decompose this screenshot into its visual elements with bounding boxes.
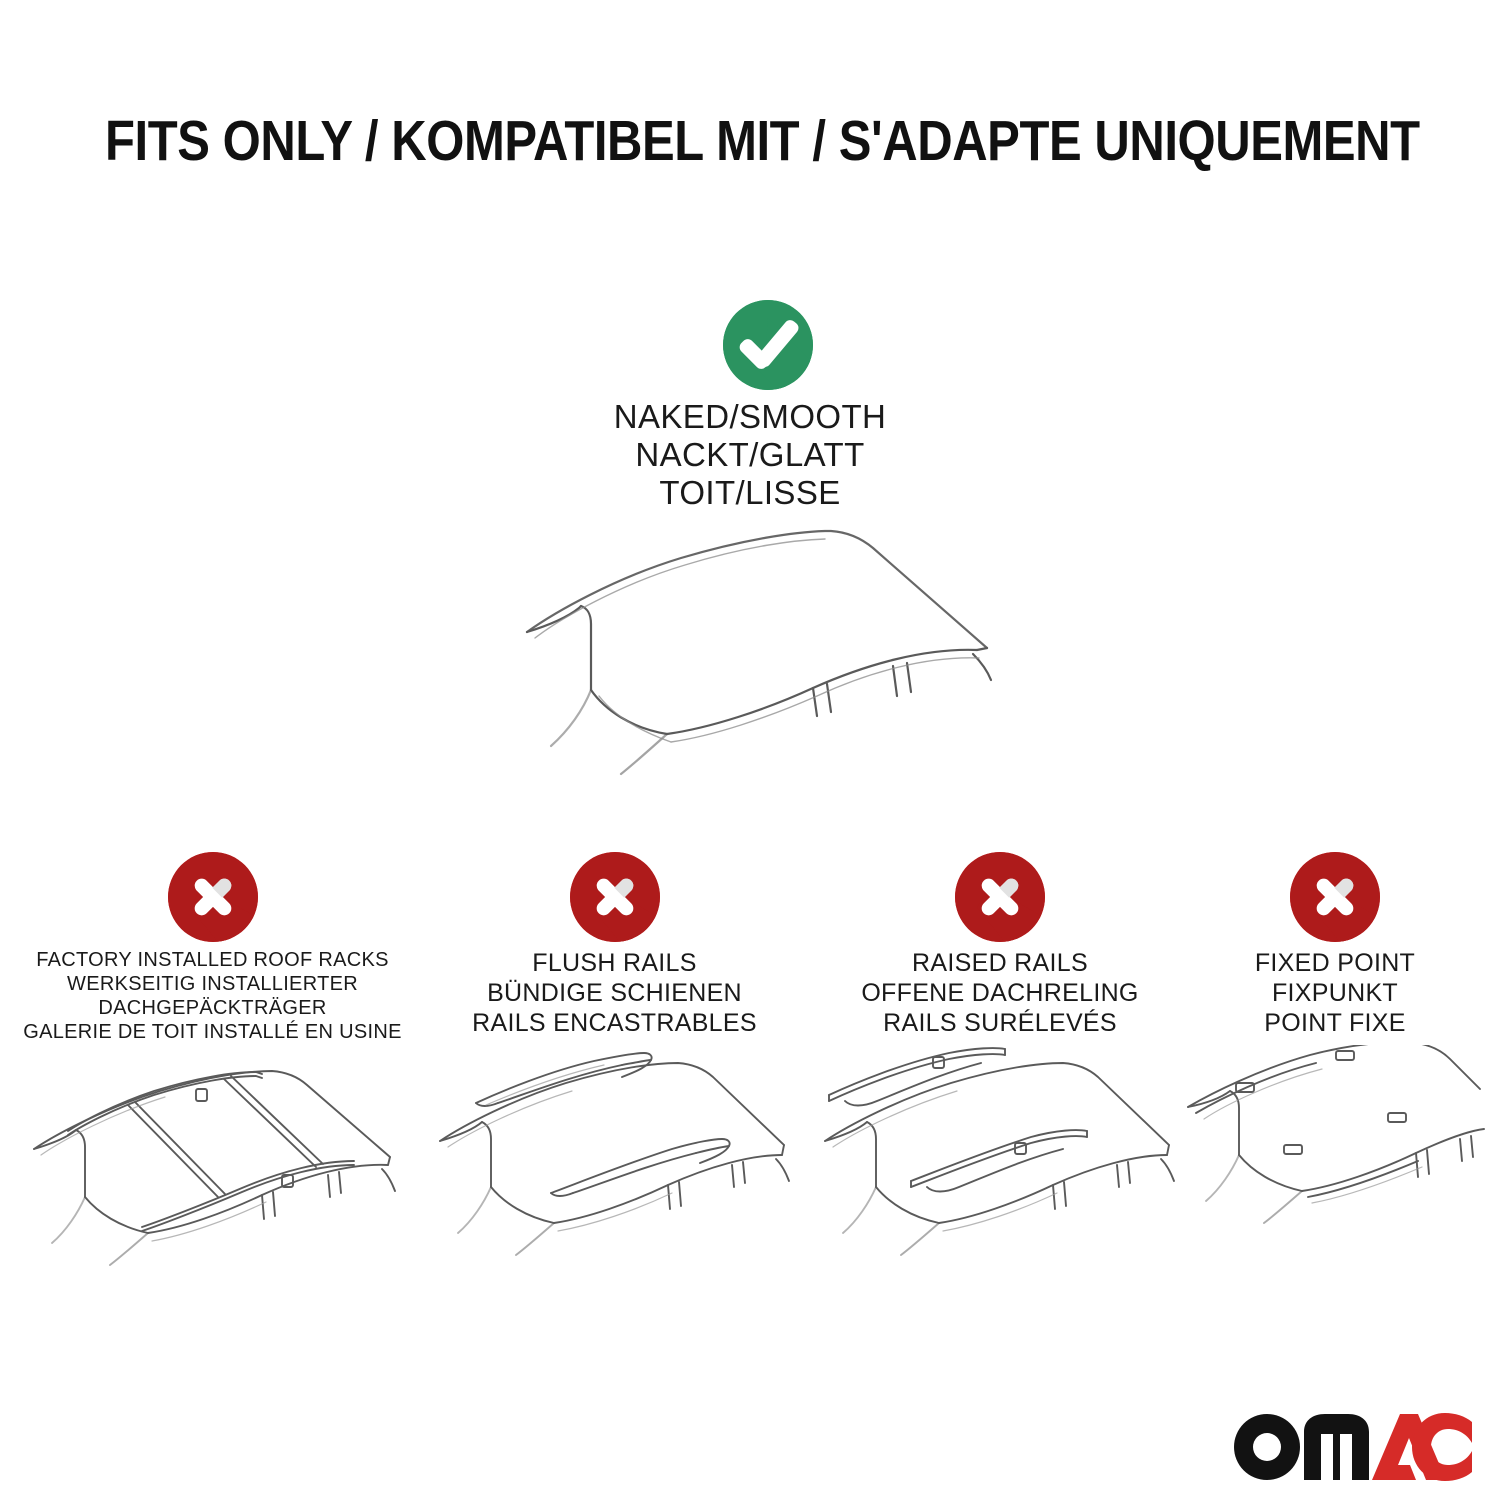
x-mark-glyph (570, 852, 660, 942)
x-mark-glyph (955, 852, 1045, 942)
not-compatible-column-flush-rails: FLUSH RAILS BÜNDIGE SCHIENEN RAILS ENCAS… (432, 840, 797, 1310)
not-compatible-column-raised-rails: RAISED RAILS OFFENE DACHRELING RAILS SUR… (815, 840, 1185, 1310)
label-de-line2-1: DACHGEPÄCKTRÄGER (10, 996, 415, 1020)
car-roof-flush-rails-illustration (432, 1045, 797, 1295)
label-en-3: RAISED RAILS (815, 948, 1185, 978)
car-roof-naked-smooth-illustration (495, 520, 1025, 810)
compatible-labels: NAKED/SMOOTH NACKT/GLATT TOIT/LISSE (0, 398, 1500, 512)
x-circle-icon (955, 852, 1045, 942)
label-en-4: FIXED POINT (1180, 948, 1490, 978)
label-en-1: FACTORY INSTALLED ROOF RACKS (10, 948, 415, 972)
check-mark-glyph (723, 300, 813, 390)
label-fr-2: RAILS ENCASTRABLES (432, 1008, 797, 1038)
x-circle-icon-wrapper-1 (168, 852, 258, 942)
car-roof-fixed-point-illustration (1180, 1045, 1490, 1295)
label-de-line1-1: WERKSEITIG INSTALLIERTER (10, 972, 415, 996)
label-de-3: OFFENE DACHRELING (815, 978, 1185, 1008)
car-roof-factory-roof-racks-illustration (10, 1045, 415, 1295)
x-circle-icon (168, 852, 258, 942)
car-roof-raised-rails-illustration (815, 1045, 1185, 1295)
compatible-label-en: NAKED/SMOOTH (0, 398, 1500, 436)
label-fr-1: GALERIE DE TOIT INSTALLÉ EN USINE (10, 1020, 415, 1044)
x-circle-icon-wrapper-4 (1290, 852, 1380, 942)
check-circle-icon-wrapper (723, 300, 813, 390)
x-circle-icon (570, 852, 660, 942)
omac-logo (1232, 1410, 1472, 1484)
not-compatible-labels-3: RAISED RAILS OFFENE DACHRELING RAILS SUR… (815, 948, 1185, 1038)
not-compatible-section: FACTORY INSTALLED ROOF RACKS WERKSEITIG … (0, 840, 1500, 1310)
check-circle-icon (723, 300, 813, 390)
x-circle-icon-wrapper-3 (955, 852, 1045, 942)
x-mark-glyph (1290, 852, 1380, 942)
x-circle-icon (1290, 852, 1380, 942)
check-long-stroke (754, 318, 801, 370)
label-de-4: FIXPUNKT (1180, 978, 1490, 1008)
not-compatible-labels-4: FIXED POINT FIXPUNKT POINT FIXE (1180, 948, 1490, 1038)
x-mark-glyph (168, 852, 258, 942)
x-circle-icon-wrapper-2 (570, 852, 660, 942)
not-compatible-labels-2: FLUSH RAILS BÜNDIGE SCHIENEN RAILS ENCAS… (432, 948, 797, 1038)
omac-logo-mark (1232, 1410, 1472, 1484)
label-fr-3: RAILS SURÉLEVÉS (815, 1008, 1185, 1038)
label-de-2: BÜNDIGE SCHIENEN (432, 978, 797, 1008)
not-compatible-column-factory-roof-racks: FACTORY INSTALLED ROOF RACKS WERKSEITIG … (10, 840, 415, 1310)
compatible-label-de: NACKT/GLATT (0, 436, 1500, 474)
compatible-label-fr: TOIT/LISSE (0, 474, 1500, 512)
not-compatible-labels-1: FACTORY INSTALLED ROOF RACKS WERKSEITIG … (10, 948, 415, 1044)
omac-logo-letter-m (1304, 1414, 1369, 1480)
label-en-2: FLUSH RAILS (432, 948, 797, 978)
not-compatible-column-fixed-point: FIXED POINT FIXPUNKT POINT FIXE (1180, 840, 1490, 1310)
label-fr-4: POINT FIXE (1180, 1008, 1490, 1038)
page-title: FITS ONLY / KOMPATIBEL MIT / S'ADAPTE UN… (105, 108, 1395, 174)
